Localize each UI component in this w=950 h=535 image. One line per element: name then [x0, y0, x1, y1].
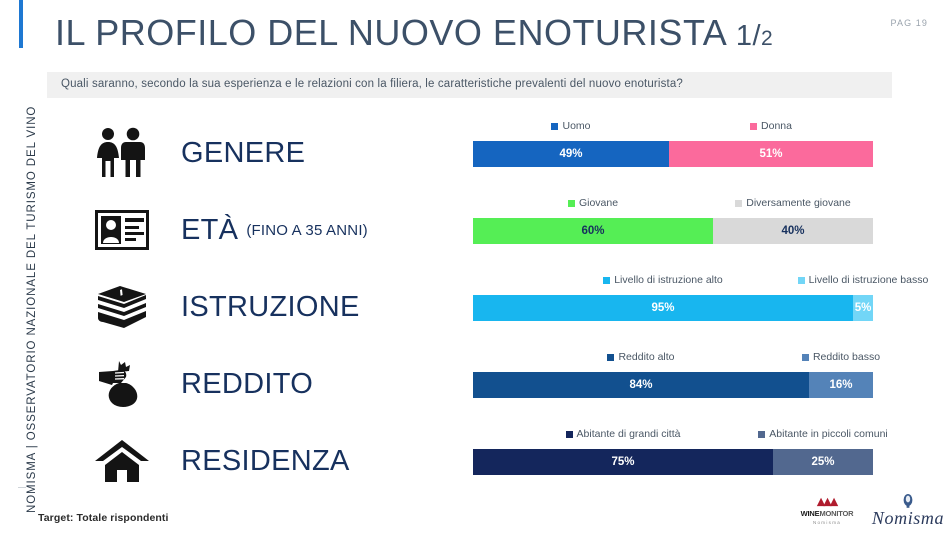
- legend-label: Reddito alto: [618, 351, 674, 363]
- bar-segment[interactable]: 95%: [473, 295, 853, 321]
- bar-segment[interactable]: 49%: [473, 141, 669, 167]
- legend-label: Donna: [761, 120, 792, 132]
- chart-legend: UomoDonna: [473, 116, 873, 136]
- legend-swatch-icon: [735, 200, 742, 207]
- nomisma-logo: Nomisma: [872, 489, 944, 531]
- legend-item[interactable]: Uomo: [473, 120, 669, 132]
- category-label: ISTRUZIONE: [181, 270, 360, 344]
- legend-swatch-icon: [568, 200, 575, 207]
- legend-swatch-icon: [566, 431, 573, 438]
- stacked-bar-chart: Livello di istruzione altoLivello di ist…: [473, 270, 873, 321]
- target-note: Target: Totale rispondenti: [38, 512, 169, 524]
- profile-row: ISTRUZIONELivello di istruzione altoLive…: [46, 270, 946, 344]
- bar-segment[interactable]: 16%: [809, 372, 873, 398]
- bar-segment-value: 51%: [759, 148, 782, 160]
- nomisma-wordmark: Nomisma: [872, 509, 944, 527]
- legend-label: Abitante di grandi città: [577, 428, 681, 440]
- bar-segment-value: 75%: [611, 456, 634, 468]
- nomisma-emblem-icon: [900, 493, 916, 509]
- winemonitor-subtitle: Nomisma: [813, 520, 841, 526]
- category-sublabel: (FINO A 35 ANNI): [246, 222, 368, 239]
- id-card-icon: [76, 193, 168, 267]
- bar-segment[interactable]: 51%: [669, 141, 873, 167]
- winemonitor-mark-icon: ▴▴▴: [817, 494, 837, 509]
- bar-segment[interactable]: 40%: [713, 218, 873, 244]
- legend-swatch-icon: [802, 354, 809, 361]
- category-name: RESIDENZA: [181, 445, 350, 478]
- category-name: GENERE: [181, 137, 305, 170]
- chart-legend: Livello di istruzione altoLivello di ist…: [473, 270, 873, 290]
- page-title: IL PROFILO DEL NUOVO ENOTURISTA 1/2: [55, 12, 773, 54]
- profile-row: RESIDENZAAbitante di grandi cittàAbitant…: [46, 424, 946, 498]
- chart-legend: GiovaneDiversamente giovane: [473, 193, 873, 213]
- legend-item[interactable]: Livello di istruzione alto: [473, 274, 853, 286]
- stacked-bar: 95%5%: [473, 295, 873, 321]
- stacked-bar: 75%25%: [473, 449, 873, 475]
- category-label: GENERE: [181, 116, 305, 190]
- winemonitor-name-light: MONITOR: [819, 509, 853, 518]
- bar-segment[interactable]: 60%: [473, 218, 713, 244]
- category-label: RESIDENZA: [181, 424, 350, 498]
- legend-item[interactable]: Abitante in piccoli comuni: [773, 428, 873, 440]
- bar-segment-value: 49%: [559, 148, 582, 160]
- winemonitor-logo: ▴▴▴ WINEMONITOR Nomisma: [793, 489, 861, 531]
- fraction-denominator: 2: [761, 27, 773, 50]
- bar-segment-value: 95%: [651, 302, 674, 314]
- bar-segment-value: 84%: [629, 379, 652, 391]
- organization-vertical-label: NOMISMA | OSSERVATORIO NAZIONALE DEL TUR…: [26, 13, 38, 513]
- legend-label: Livello di istruzione alto: [614, 274, 723, 286]
- stacked-bar: 49%51%: [473, 141, 873, 167]
- legend-item[interactable]: Reddito alto: [473, 351, 809, 363]
- question-band: Quali saranno, secondo la sua esperienza…: [47, 72, 892, 98]
- winemonitor-name: WINEMONITOR: [801, 509, 854, 520]
- page-title-text: IL PROFILO DEL NUOVO ENOTURISTA: [55, 12, 727, 53]
- profile-row: REDDITOReddito altoReddito basso84%16%: [46, 347, 946, 421]
- rail-accent-bar: [19, 0, 23, 48]
- category-name: ETÀ: [181, 214, 238, 247]
- bar-segment[interactable]: 84%: [473, 372, 809, 398]
- bar-segment-value: 5%: [855, 302, 872, 314]
- money-bag-icon: [76, 347, 168, 421]
- category-name: ISTRUZIONE: [181, 291, 360, 324]
- bar-segment-value: 40%: [781, 225, 804, 237]
- category-name: REDDITO: [181, 368, 313, 401]
- stacked-bar: 60%40%: [473, 218, 873, 244]
- legend-swatch-icon: [551, 123, 558, 130]
- bar-segment-value: 60%: [581, 225, 604, 237]
- stacked-bar: 84%16%: [473, 372, 873, 398]
- stacked-bar-chart: Abitante di grandi cittàAbitante in picc…: [473, 424, 873, 475]
- bar-segment[interactable]: 25%: [773, 449, 873, 475]
- man-woman-icon: [76, 116, 168, 190]
- legend-label: Reddito basso: [813, 351, 880, 363]
- legend-item[interactable]: Livello di istruzione basso: [853, 274, 873, 286]
- bar-segment-value: 16%: [829, 379, 852, 391]
- legend-swatch-icon: [607, 354, 614, 361]
- bar-segment-value: 25%: [811, 456, 834, 468]
- profile-row: GENEREUomoDonna49%51%: [46, 116, 946, 190]
- legend-item[interactable]: Abitante di grandi città: [473, 428, 773, 440]
- fraction-numerator: 1: [736, 20, 753, 52]
- legend-item[interactable]: Reddito basso: [809, 351, 873, 363]
- winemonitor-name-bold: WINE: [801, 509, 820, 518]
- question-text: Quali saranno, secondo la sua esperienza…: [61, 78, 683, 90]
- legend-label: Giovane: [579, 197, 618, 209]
- stacked-bar-chart: GiovaneDiversamente giovane60%40%: [473, 193, 873, 244]
- legend-item[interactable]: Giovane: [473, 197, 713, 209]
- legend-label: Livello di istruzione basso: [809, 274, 929, 286]
- category-label: ETÀ(FINO A 35 ANNI): [181, 193, 368, 267]
- chart-legend: Reddito altoReddito basso: [473, 347, 873, 367]
- fraction-slash: /: [752, 20, 761, 52]
- legend-label: Uomo: [562, 120, 590, 132]
- legend-swatch-icon: [750, 123, 757, 130]
- profile-row: ETÀ(FINO A 35 ANNI)GiovaneDiversamente g…: [46, 193, 946, 267]
- chart-legend: Abitante di grandi cittàAbitante in picc…: [473, 424, 873, 444]
- left-rail: NOMISMA | OSSERVATORIO NAZIONALE DEL TUR…: [0, 0, 46, 535]
- category-label: REDDITO: [181, 347, 313, 421]
- legend-swatch-icon: [603, 277, 610, 284]
- house-icon: [76, 424, 168, 498]
- bar-segment[interactable]: 5%: [853, 295, 873, 321]
- legend-item[interactable]: Diversamente giovane: [713, 197, 873, 209]
- stacked-bar-chart: UomoDonna49%51%: [473, 116, 873, 167]
- page-title-fraction: 1/2: [727, 20, 773, 52]
- legend-item[interactable]: Donna: [669, 120, 873, 132]
- legend-label: Abitante in piccoli comuni: [769, 428, 887, 440]
- stacked-bar-chart: Reddito altoReddito basso84%16%: [473, 347, 873, 398]
- legend-label: Diversamente giovane: [746, 197, 850, 209]
- legend-swatch-icon: [758, 431, 765, 438]
- footer-divider: [18, 487, 26, 488]
- page-number: PAG 19: [891, 18, 928, 28]
- legend-swatch-icon: [798, 277, 805, 284]
- books-icon: [76, 270, 168, 344]
- bar-segment[interactable]: 75%: [473, 449, 773, 475]
